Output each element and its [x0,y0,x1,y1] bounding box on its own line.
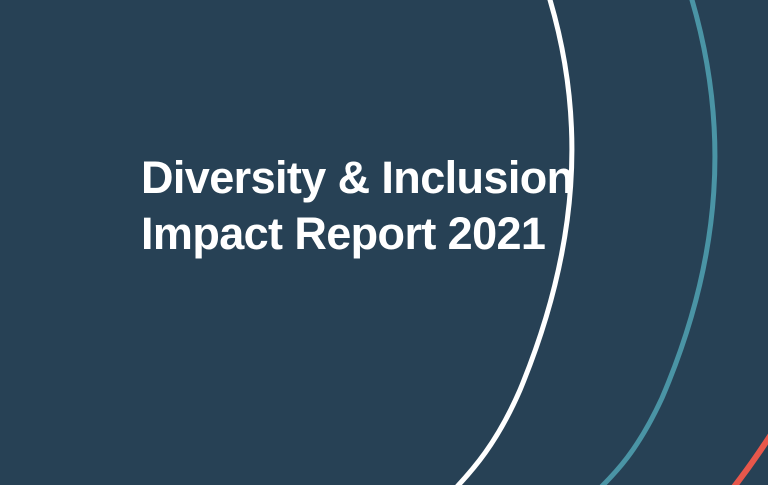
report-cover-page: Diversity & Inclusion Impact Report 2021 [0,0,768,485]
arc-teal-icon [594,0,715,485]
page-title-line-1: Diversity & Inclusion [141,150,571,206]
page-title-line-2: Impact Report 2021 [141,206,571,262]
page-title: Diversity & Inclusion Impact Report 2021 [141,150,571,262]
arc-red-icon [730,405,768,485]
